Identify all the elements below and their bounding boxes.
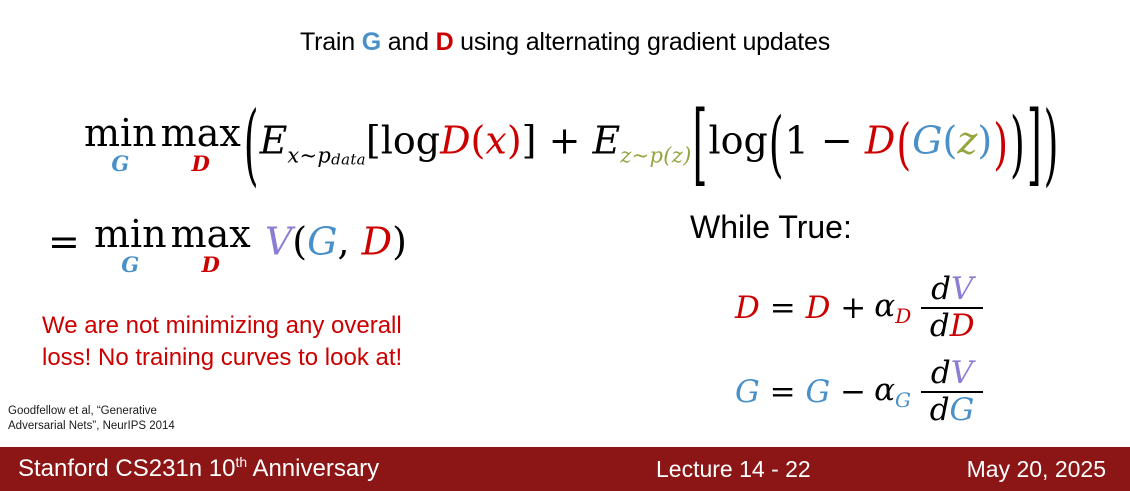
g-learning-rate: αG: [874, 375, 911, 410]
g-alpha-symbol: α: [874, 372, 895, 408]
v-open-paren: (: [292, 220, 307, 264]
d-update-sign: +: [840, 290, 866, 326]
g-update-rhs-var: G: [805, 374, 830, 410]
max-operator-subscript: D: [192, 153, 210, 174]
d-gradient-numerator: dV: [925, 274, 979, 307]
min-operator: min G: [84, 114, 157, 174]
close-bracket-1: ]: [522, 119, 537, 163]
d1-arg-open: (: [471, 119, 486, 163]
expectation-noise-subscript: z~p(z): [620, 143, 691, 167]
d-gradient-denominator: dD: [924, 309, 981, 343]
slide-title-post: using alternating gradient updates: [453, 28, 830, 56]
g2-close-paren: ): [977, 119, 992, 163]
update-rules-block: D = D + αD dV dD G = G − αG dV dG: [735, 268, 983, 432]
expectation-data-subscript-nested: data: [331, 150, 366, 168]
d-den-differential: d: [930, 308, 950, 344]
expectation-noise-base: E: [593, 119, 621, 163]
expectation-data-base: E: [260, 119, 288, 163]
discriminator-symbol-2: D: [865, 119, 895, 163]
while-true-header: While True:: [690, 209, 852, 246]
max-operator-line2: max D: [171, 215, 251, 275]
footer-lecture-slide-number: Lecture 14 - 22: [656, 456, 811, 483]
slide-title-mid: and: [381, 28, 436, 56]
footer-ordinal-suffix: th: [236, 454, 248, 470]
v-arg-generator: G: [307, 220, 337, 264]
g-update-equals: =: [770, 374, 796, 410]
g-update-sign: −: [840, 374, 866, 410]
minimax-objective-equation: min G max D (Ex~pdata[logD(x)] + Ez~p(z)…: [82, 114, 1060, 174]
d-den-var: D: [950, 308, 975, 344]
min-operator-label: min: [84, 114, 157, 152]
d-num-differential: d: [931, 271, 951, 307]
value-function-symbol: V: [265, 220, 292, 264]
max-operator-subscript-line2: D: [202, 254, 220, 275]
slide-title-pre: Train: [300, 28, 362, 56]
g-gradient-denominator: dG: [924, 393, 981, 427]
data-sample-x: x: [485, 119, 506, 163]
g2-open-paren: (: [943, 119, 958, 163]
open-bracket-2: [: [693, 99, 708, 188]
v-close-paren: ): [392, 220, 407, 264]
equals-sign-line2: =: [48, 220, 80, 264]
slide-footer: Stanford CS231n 10th Anniversary Lecture…: [0, 447, 1130, 491]
d1-arg-close: ): [507, 119, 522, 163]
d-alpha-subscript: D: [895, 304, 911, 328]
generator-symbol: G: [912, 119, 942, 163]
citation-line-2: Adversarial Nets”, NeurIPS 2014: [8, 419, 308, 434]
footer-date: May 20, 2025: [967, 456, 1106, 483]
open-bracket-1: [: [366, 119, 381, 163]
min-operator-line2: min G: [94, 215, 167, 275]
g-den-var: G: [950, 392, 975, 428]
g-num-differential: d: [931, 355, 951, 391]
d2-close-paren: ): [993, 116, 1008, 171]
discriminator-symbol-1: D: [440, 119, 470, 163]
warning-note-line-2: loss! No training curves to look at!: [42, 342, 512, 374]
d-gradient-fraction: dV dD: [921, 274, 983, 342]
log-1: log: [381, 119, 440, 163]
slide-title-generator-token: G: [362, 28, 381, 56]
g-gradient-fraction: dV dG: [921, 358, 983, 426]
v-arg-discriminator: D: [362, 220, 392, 264]
constant-one: 1: [785, 119, 809, 163]
d-alpha-symbol: α: [874, 288, 895, 324]
log-2: log: [708, 119, 767, 163]
v-arg-comma: ,: [337, 220, 349, 264]
noise-sample-z: z: [957, 119, 977, 163]
min-operator-subscript-line2: G: [121, 254, 139, 275]
d-update-equals: =: [770, 290, 796, 326]
min-operator-subscript: G: [111, 153, 129, 174]
value-function-equation: = min G max D V(G, D): [48, 215, 407, 275]
min-operator-label-line2: min: [94, 215, 167, 253]
generator-update-equation: G = G − αG dV dG: [735, 352, 983, 432]
g-num-value-fn: V: [951, 355, 973, 391]
max-operator-label: max: [161, 114, 241, 152]
max-operator: max D: [161, 114, 241, 174]
d-learning-rate: αD: [874, 291, 911, 326]
slide-title: Train G and D using alternating gradient…: [0, 28, 1130, 57]
d2-open-paren: (: [896, 116, 911, 171]
plus-operator: +: [549, 119, 581, 163]
d-num-value-fn: V: [951, 271, 973, 307]
g-den-differential: d: [930, 392, 950, 428]
footer-course-post: Anniversary: [247, 455, 379, 482]
footer-course-pre: Stanford CS231n 10: [18, 455, 236, 482]
g-alpha-subscript: G: [895, 388, 911, 412]
expectation-data-subscript: x~p: [287, 143, 331, 167]
slide-title-discriminator-token: D: [436, 28, 454, 56]
d-update-lhs: D: [735, 290, 760, 326]
warning-note-line-1: We are not minimizing any overall: [42, 310, 512, 342]
citation-line-1: Goodfellow et al, “Generative: [8, 404, 308, 419]
g-gradient-numerator: dV: [925, 358, 979, 391]
minus-operator: −: [821, 119, 853, 163]
warning-note: We are not minimizing any overall loss! …: [42, 310, 512, 373]
max-operator-label-line2: max: [171, 215, 251, 253]
g-update-lhs: G: [735, 374, 760, 410]
outer-open-paren: (: [244, 99, 259, 188]
discriminator-update-equation: D = D + αD dV dD: [735, 268, 983, 348]
d-update-rhs-var: D: [806, 290, 831, 326]
close-bracket-2: ]: [1027, 99, 1042, 188]
outer-close-paren: ): [1044, 99, 1059, 188]
paper-citation: Goodfellow et al, “Generative Adversaria…: [8, 404, 308, 435]
log2-close-paren: ): [1010, 108, 1025, 180]
log2-open-paren: (: [769, 108, 784, 180]
footer-course-title: Stanford CS231n 10th Anniversary: [18, 454, 379, 483]
